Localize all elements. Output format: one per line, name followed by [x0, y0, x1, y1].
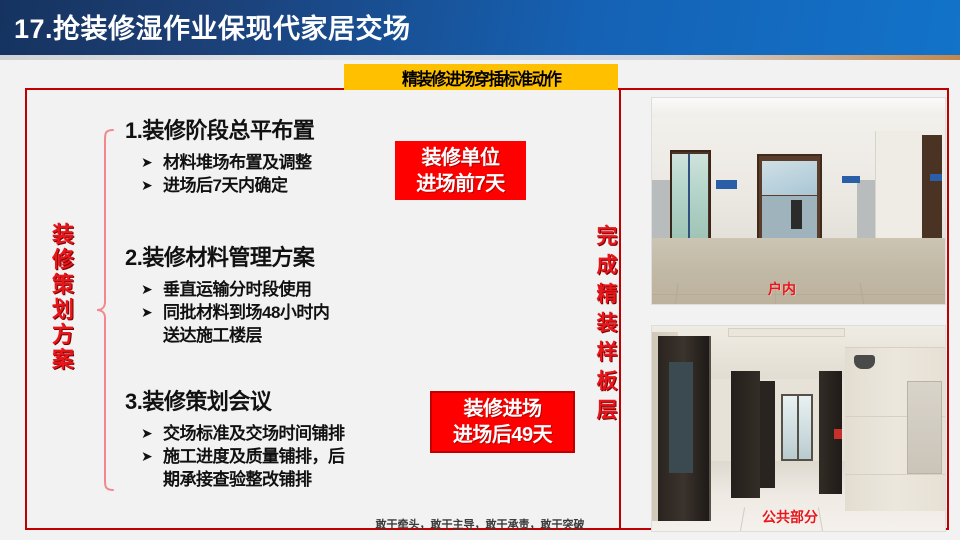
photo-door-middle	[760, 381, 775, 488]
list-item-label: 施工进度及质量铺排，后 期承接查验整改铺排	[163, 445, 345, 491]
list-item-label-line2: 送达施工楼层	[163, 324, 329, 347]
section-2-bullets: ➤ 垂直运输分时段使用 ➤ 同批材料到场48小时内 送达施工楼层	[125, 278, 329, 347]
photo-floor	[652, 238, 945, 304]
section-banner: 精装修进场穿插标准动作	[344, 64, 618, 90]
photo-wall-sign	[716, 180, 737, 188]
security-camera-icon	[854, 355, 875, 369]
photo-ceiling-recess	[728, 328, 845, 337]
photo-door-middle-glass	[762, 161, 818, 195]
footer-slogan: 敢干牵头，敢干主导，敢干承责，敢干突破	[0, 516, 960, 532]
list-item-label: 同批材料到场48小时内 送达施工楼层	[163, 301, 329, 347]
content-section-1: 1.装修阶段总平布置 ➤ 材料堆场布置及调整 ➤ 进场后7天内确定	[125, 113, 314, 197]
chevron-right-icon: ➤	[139, 301, 163, 324]
photo-tile-joint	[845, 474, 945, 475]
left-vertical-label-char: 修	[48, 247, 78, 272]
photo-wall-sign	[930, 174, 942, 181]
chevron-right-icon: ➤	[139, 278, 163, 301]
left-vertical-label-char: 划	[48, 297, 78, 322]
right-vertical-label-char: 精	[592, 280, 622, 309]
list-item-label: 进场后7天内确定	[163, 174, 287, 197]
photo-door-left-near	[658, 336, 711, 521]
list-item: ➤ 进场后7天内确定	[139, 174, 314, 197]
chevron-right-icon: ➤	[139, 445, 163, 468]
list-item: ➤ 同批材料到场48小时内 送达施工楼层	[139, 301, 329, 347]
photo-door-glass	[669, 362, 693, 473]
section-1-bullets: ➤ 材料堆场布置及调整 ➤ 进场后7天内确定	[125, 151, 314, 197]
photo-alcove-right	[875, 131, 922, 244]
list-item: ➤ 垂直运输分时段使用	[139, 278, 329, 301]
right-vertical-label-char: 层	[592, 396, 622, 425]
callout-line-2: 进场后49天	[453, 422, 552, 448]
section-3-title: 3.装修策划会议	[125, 384, 345, 416]
slide-canvas: 17.抢装修湿作业保现代家居交场 精装修进场穿插标准动作 装 修 策 划 方 案…	[0, 0, 960, 540]
section-banner-label: 精装修进场穿插标准动作	[402, 65, 561, 90]
list-item: ➤ 材料堆场布置及调整	[139, 151, 314, 174]
right-vertical-label: 完 成 精 装 样 板 层	[592, 222, 622, 425]
photo-door-middle-panel	[762, 196, 818, 238]
photo-column-right	[857, 180, 875, 242]
chevron-right-icon: ➤	[139, 174, 163, 197]
photo-door-left-far	[731, 371, 760, 498]
photo-fire-marker	[834, 429, 843, 439]
right-vertical-label-char: 样	[592, 338, 622, 367]
grouping-brace	[96, 128, 114, 492]
photo-wall-sign	[842, 176, 860, 183]
section-1-title: 1.装修阶段总平布置	[125, 113, 314, 145]
photo-window	[781, 394, 813, 462]
photo-doorframe-right	[922, 135, 943, 242]
left-vertical-label: 装 修 策 划 方 案	[48, 222, 78, 372]
photo-floor-joint	[652, 294, 945, 295]
photo-door-left-mullion	[688, 154, 690, 237]
section-2-title: 2.装修材料管理方案	[125, 240, 329, 272]
photo-ceiling	[652, 98, 945, 117]
left-vertical-label-char: 方	[48, 322, 78, 347]
right-vertical-label-char: 装	[592, 309, 622, 338]
left-vertical-label-char: 装	[48, 222, 78, 247]
callout-box-schedule-1: 装修单位 进场前7天	[395, 141, 526, 200]
photo-door-middle	[757, 154, 821, 243]
callout-box-schedule-2: 装修进场 进场后49天	[430, 391, 575, 453]
photo-door-left-opening	[672, 154, 708, 237]
callout-line-2: 进场前7天	[416, 171, 505, 197]
content-section-2: 2.装修材料管理方案 ➤ 垂直运输分时段使用 ➤ 同批材料到场48小时内 送达施…	[125, 240, 329, 347]
photo-wall-panel-right	[907, 381, 942, 473]
right-vertical-label-char: 板	[592, 367, 622, 396]
section-3-bullets: ➤ 交场标准及交场时间铺排 ➤ 施工进度及质量铺排，后 期承接查验整改铺排	[125, 422, 345, 491]
photo-tile-joint	[845, 347, 945, 348]
page-title: 17.抢装修湿作业保现代家居交场	[14, 7, 411, 46]
right-vertical-label-char: 成	[592, 251, 622, 280]
callout-line-1: 装修进场	[464, 396, 542, 422]
photo-door-left	[670, 150, 711, 243]
list-item-label-line1: 同批材料到场48小时内	[163, 303, 329, 322]
photo-window-mullion	[797, 396, 799, 460]
right-vertical-label-char: 完	[592, 222, 622, 251]
chevron-right-icon: ➤	[139, 151, 163, 174]
list-item: ➤ 施工进度及质量铺排，后 期承接查验整改铺排	[139, 445, 345, 491]
photo-public-corridor	[651, 325, 946, 532]
callout-line-1: 装修单位	[422, 145, 500, 171]
list-item-label-line2: 期承接查验整改铺排	[163, 468, 345, 491]
list-item-label: 垂直运输分时段使用	[163, 278, 312, 301]
chevron-right-icon: ➤	[139, 422, 163, 445]
left-vertical-label-char: 案	[48, 347, 78, 372]
list-item: ➤ 交场标准及交场时间铺排	[139, 422, 345, 445]
list-item-label: 材料堆场布置及调整	[163, 151, 312, 174]
photo-caption-interior: 户内	[768, 279, 796, 299]
left-vertical-label-char: 策	[48, 272, 78, 297]
content-section-3: 3.装修策划会议 ➤ 交场标准及交场时间铺排 ➤ 施工进度及质量铺排，后 期承接…	[125, 384, 345, 491]
header-underline-divider	[0, 55, 960, 60]
photo-interior-room	[651, 97, 946, 305]
list-item-label-line1: 施工进度及质量铺排，后	[163, 447, 345, 466]
list-item-label: 交场标准及交场时间铺排	[163, 422, 345, 445]
photo-door-middle-shadow	[791, 200, 802, 230]
